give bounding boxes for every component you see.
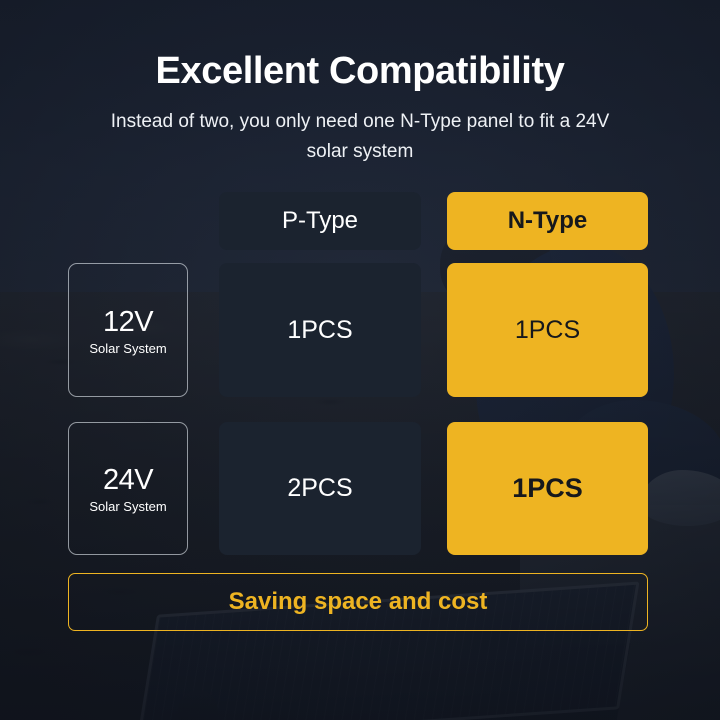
- row-label-24v-voltage: 24V: [103, 463, 153, 497]
- content-layer: Excellent Compatibility Instead of two, …: [0, 0, 720, 720]
- row-label-12v-system: Solar System: [89, 341, 166, 356]
- row-label-12v-voltage: 12V: [103, 305, 153, 339]
- column-header-p-type: P-Type: [219, 192, 421, 250]
- cell-12v-p-type: 1PCS: [219, 263, 421, 397]
- page-title: Excellent Compatibility: [0, 50, 720, 93]
- cell-24v-p-type: 2PCS: [219, 422, 421, 555]
- cell-12v-n-type: 1PCS: [447, 263, 648, 397]
- page-subtitle: Instead of two, you only need one N-Type…: [110, 107, 610, 167]
- cell-24v-n-type: 1PCS: [447, 422, 648, 555]
- row-label-24v: 24V Solar System: [68, 422, 188, 555]
- column-header-n-type: N-Type: [447, 192, 648, 250]
- promo-graphic: Excellent Compatibility Instead of two, …: [0, 0, 720, 720]
- bottom-banner: Saving space and cost: [68, 573, 648, 631]
- row-label-12v: 12V Solar System: [68, 263, 188, 397]
- row-label-24v-system: Solar System: [89, 499, 166, 514]
